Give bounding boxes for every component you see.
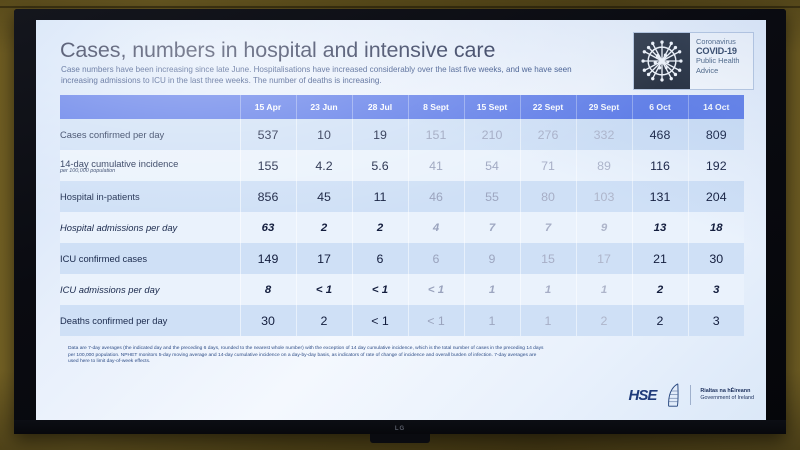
table-cell: 3 [688, 274, 744, 305]
table-cell: 17 [296, 243, 352, 274]
table-cell: < 1 [352, 274, 408, 305]
table-row: 14-day cumulative incidenceper 100,000 p… [60, 150, 744, 181]
table-cell: 9 [576, 212, 632, 243]
table-header-label-col [60, 95, 240, 119]
table-cell: 10 [296, 119, 352, 150]
table-cell: 2 [632, 274, 688, 305]
table-header-row: 15 Apr 23 Jun 28 Jul 8 Sept 15 Sept 22 S… [60, 95, 744, 119]
presentation-slide: Cases, numbers in hospital and intensive… [36, 20, 766, 420]
table-cell: 13 [632, 212, 688, 243]
table-cell: < 1 [296, 274, 352, 305]
table-cell: 210 [464, 119, 520, 150]
table-cell: 21 [632, 243, 688, 274]
table-row-label: Cases confirmed per day [60, 119, 240, 150]
covid-logo-line2: COVID-19 [696, 47, 753, 57]
table-cell: 537 [240, 119, 296, 150]
logo-divider [690, 385, 691, 405]
table-cell: 55 [464, 181, 520, 212]
table-cell: 30 [688, 243, 744, 274]
table-cell: 1 [464, 305, 520, 336]
covid19-public-health-advice-logo: Coronavirus COVID-19 Public Health Advic… [633, 32, 754, 90]
table-cell: 80 [520, 181, 576, 212]
table-cell: 7 [520, 212, 576, 243]
table-header-cell: 15 Sept [464, 95, 520, 119]
tv-screen: Cases, numbers in hospital and intensive… [36, 20, 766, 420]
table-cell: 1 [464, 274, 520, 305]
table-cell: 1 [520, 274, 576, 305]
table-cell: 131 [632, 181, 688, 212]
table-cell: 19 [352, 119, 408, 150]
irish-harp-icon [665, 382, 681, 408]
table-cell: < 1 [408, 305, 464, 336]
table-cell: 4.2 [296, 150, 352, 181]
table-cell: 856 [240, 181, 296, 212]
organisation-logos: HSE Rialtas na hÉireann Government [629, 382, 754, 408]
table-cell: 5.6 [352, 150, 408, 181]
table-row: Hospital admissions per day632247791318 [60, 212, 744, 243]
table-cell: 4 [408, 212, 464, 243]
table-cell: 2 [296, 212, 352, 243]
table-row: Hospital in-patients85645114655801031312… [60, 181, 744, 212]
table-row-label: Deaths confirmed per day [60, 305, 240, 336]
table-cell: 468 [632, 119, 688, 150]
footnote-text: Data are 7-day averages (the indicated d… [68, 346, 548, 366]
table-cell: < 1 [408, 274, 464, 305]
table-row: ICU admissions per day8< 1< 1< 111123 [60, 274, 744, 305]
table-cell: 7 [464, 212, 520, 243]
coronavirus-virus-icon [634, 33, 690, 89]
table-cell: 116 [632, 150, 688, 181]
gov-logo-line2: Government of Ireland [700, 395, 754, 402]
table-cell: 89 [576, 150, 632, 181]
covid-logo-line4: Advice [696, 66, 753, 76]
table-cell: 30 [240, 305, 296, 336]
table-cell: 2 [352, 212, 408, 243]
table-cell: 63 [240, 212, 296, 243]
gov-logo-line1: Rialtas na hÉireann [700, 388, 754, 395]
table-cell: 1 [520, 305, 576, 336]
table-header-cell: 22 Sept [520, 95, 576, 119]
table-cell: 15 [520, 243, 576, 274]
table-cell: 151 [408, 119, 464, 150]
table-row-label: ICU admissions per day [60, 274, 240, 305]
table-cell: 9 [464, 243, 520, 274]
table-cell: 192 [688, 150, 744, 181]
covid-logo-text: Coronavirus COVID-19 Public Health Advic… [690, 33, 753, 89]
table-row: ICU confirmed cases1491766915172130 [60, 243, 744, 274]
table-row: Deaths confirmed per day302< 1< 111223 [60, 305, 744, 336]
table-cell: 6 [408, 243, 464, 274]
covid-logo-line3: Public Health [696, 56, 753, 66]
table-cell: 103 [576, 181, 632, 212]
table-cell: 809 [688, 119, 744, 150]
table-cell: 11 [352, 181, 408, 212]
table-header-cell: 15 Apr [240, 95, 296, 119]
table-header-cell: 29 Sept [576, 95, 632, 119]
television: Cases, numbers in hospital and intensive… [14, 9, 786, 434]
lg-brand-logo: LG [395, 426, 405, 432]
page-title: Cases, numbers in hospital and intensive… [60, 38, 495, 63]
table-cell: 46 [408, 181, 464, 212]
table-row: Cases confirmed per day53710191512102763… [60, 119, 744, 150]
table-cell: 54 [464, 150, 520, 181]
wall-trim-line [0, 6, 800, 8]
table-cell: 6 [352, 243, 408, 274]
table-cell: 41 [408, 150, 464, 181]
table-row-label: ICU confirmed cases [60, 243, 240, 274]
table-header-cell: 6 Oct [632, 95, 688, 119]
table-cell: 332 [576, 119, 632, 150]
table-header-cell: 28 Jul [352, 95, 408, 119]
table-row-label: Hospital admissions per day [60, 212, 240, 243]
tv-stand [370, 434, 430, 443]
table-cell: 149 [240, 243, 296, 274]
table-cell: 2 [632, 305, 688, 336]
table-cell: 8 [240, 274, 296, 305]
slide-subtitle: Case numbers have been increasing since … [61, 64, 581, 86]
table-cell: 155 [240, 150, 296, 181]
table-row-sublabel: per 100,000 population [60, 168, 240, 174]
table-cell: 204 [688, 181, 744, 212]
table-cell: 1 [576, 274, 632, 305]
table-row-label: Hospital in-patients [60, 181, 240, 212]
table-cell: 2 [296, 305, 352, 336]
table-header-cell: 8 Sept [408, 95, 464, 119]
table-cell: 18 [688, 212, 744, 243]
table-cell: 3 [688, 305, 744, 336]
table-cell: 276 [520, 119, 576, 150]
table-cell: < 1 [352, 305, 408, 336]
hse-logo: HSE [629, 387, 657, 404]
table-cell: 71 [520, 150, 576, 181]
table-cell: 2 [576, 305, 632, 336]
table-header-cell: 14 Oct [688, 95, 744, 119]
metrics-table: 15 Apr 23 Jun 28 Jul 8 Sept 15 Sept 22 S… [60, 95, 744, 336]
tv-bottom-bezel: LG [14, 420, 786, 434]
table-header-cell: 23 Jun [296, 95, 352, 119]
table-cell: 45 [296, 181, 352, 212]
government-of-ireland-logo-text: Rialtas na hÉireann Government of Irelan… [700, 388, 754, 402]
table-row-label: 14-day cumulative incidenceper 100,000 p… [60, 150, 240, 181]
table-cell: 17 [576, 243, 632, 274]
